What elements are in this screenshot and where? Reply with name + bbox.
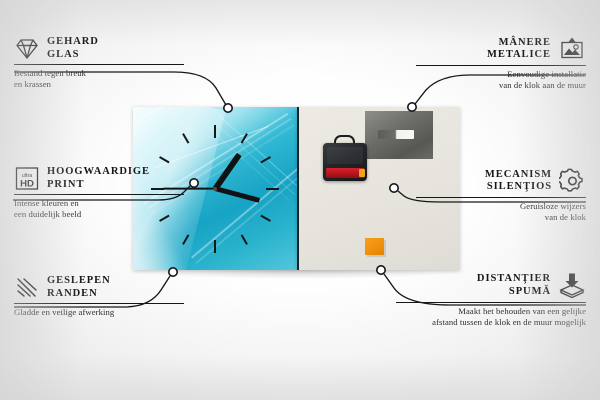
callout-subtitle-line2: en krassen [14, 79, 184, 90]
callout-head: GESLEPEN RANDEN [14, 275, 184, 300]
callout-title-line2: GLAS [47, 49, 99, 62]
callout-rule [396, 302, 586, 303]
clock-mechanism [323, 143, 367, 181]
callout-subtitle-line2: van de klok aan de muur [416, 80, 586, 91]
callout-subtitle-line1: Maakt het behouden van een gelijke [396, 306, 586, 317]
callout-head: ultra HD HOOGWAARDIGE PRINT [14, 166, 184, 191]
clock-hub [213, 187, 217, 191]
ultra-hd-icon: ultra HD [14, 166, 40, 191]
callout-subtitle-line1: Gladde en veilige afwerking [14, 307, 184, 318]
battery [326, 168, 364, 178]
callout-subtitle-line2: een duidelijk beeld [14, 209, 184, 220]
callout-subtitle-line1: Bestand tegen breuk [14, 68, 184, 79]
callout-title-line1: GESLEPEN [47, 275, 111, 288]
foam-spacer [365, 238, 384, 255]
mechanism-body [327, 147, 363, 164]
callout-subtitle-line2: afstand tussen de klok en de muur mogeli… [396, 317, 586, 328]
callout-distantier-spuma: DISTANŢIER SPUMĂ Maakt het behouden van … [396, 272, 586, 328]
callout-subtitle-line1: Eenvoudige installatie [416, 69, 586, 80]
picture-frame-icon [558, 36, 586, 62]
gear-icon [559, 168, 586, 194]
callout-rule [14, 194, 184, 195]
clock-tick [260, 214, 271, 221]
down-arrow-spacer-icon [558, 272, 586, 299]
clock-tick [266, 188, 279, 190]
infographic-canvas: GEHARD GLAS Bestand tegen breuk en krass… [0, 0, 600, 400]
minute-hand [214, 186, 260, 203]
clock-tick [241, 234, 248, 245]
callout-geslepen-randen: GESLEPEN RANDEN Gladde en veilige afwerk… [14, 275, 184, 318]
diagonal-lines-icon [14, 276, 40, 300]
callout-manere-metalice: MÂNERE METALICE Eenvoudige installatie v… [416, 36, 586, 91]
callout-title-line1: HOOGWAARDIGE [47, 166, 150, 179]
callout-gehard-glas: GEHARD GLAS Bestand tegen breuk en krass… [14, 36, 184, 90]
callout-title-line2: SILENŢIOS [485, 181, 552, 194]
metal-hanger-plate [365, 111, 433, 159]
callout-head: DISTANŢIER SPUMĂ [396, 272, 586, 299]
callout-head: MECANISM SILENŢIOS [416, 168, 586, 194]
callout-rule [14, 303, 184, 304]
ultra-hd-icon-large-label: HD [20, 179, 34, 190]
clock-tick [214, 125, 216, 138]
callout-title-line2: RANDEN [47, 288, 111, 301]
callout-title-line2: METALICE [487, 49, 551, 62]
callout-title-line1: MECANISM [485, 169, 552, 182]
callout-hoogwaardige-print: ultra HD HOOGWAARDIGE PRINT Intense kleu… [14, 166, 184, 220]
hanger-slot [378, 130, 414, 139]
callout-rule [416, 197, 586, 198]
callout-title-line1: GEHARD [47, 36, 99, 49]
callout-subtitle-line1: Geruisloze wijzers [416, 201, 586, 212]
callout-title-line2: PRINT [47, 179, 150, 192]
clock-tick [214, 240, 216, 253]
callout-rule [416, 65, 586, 66]
callout-subtitle-line1: Intense kleuren en [14, 198, 184, 209]
diamond-icon [14, 37, 40, 61]
callout-title-line2: SPUMĂ [477, 286, 551, 299]
callout-head: MÂNERE METALICE [416, 36, 586, 62]
callout-rule [14, 64, 184, 65]
callout-title-line1: DISTANŢIER [477, 273, 551, 286]
callout-mecanism-silentios: MECANISM SILENŢIOS Geruisloze wijzers va… [416, 168, 586, 223]
callout-subtitle-line2: van de klok [416, 212, 586, 223]
callout-head: GEHARD GLAS [14, 36, 184, 61]
callout-title-line1: MÂNERE [487, 37, 551, 50]
